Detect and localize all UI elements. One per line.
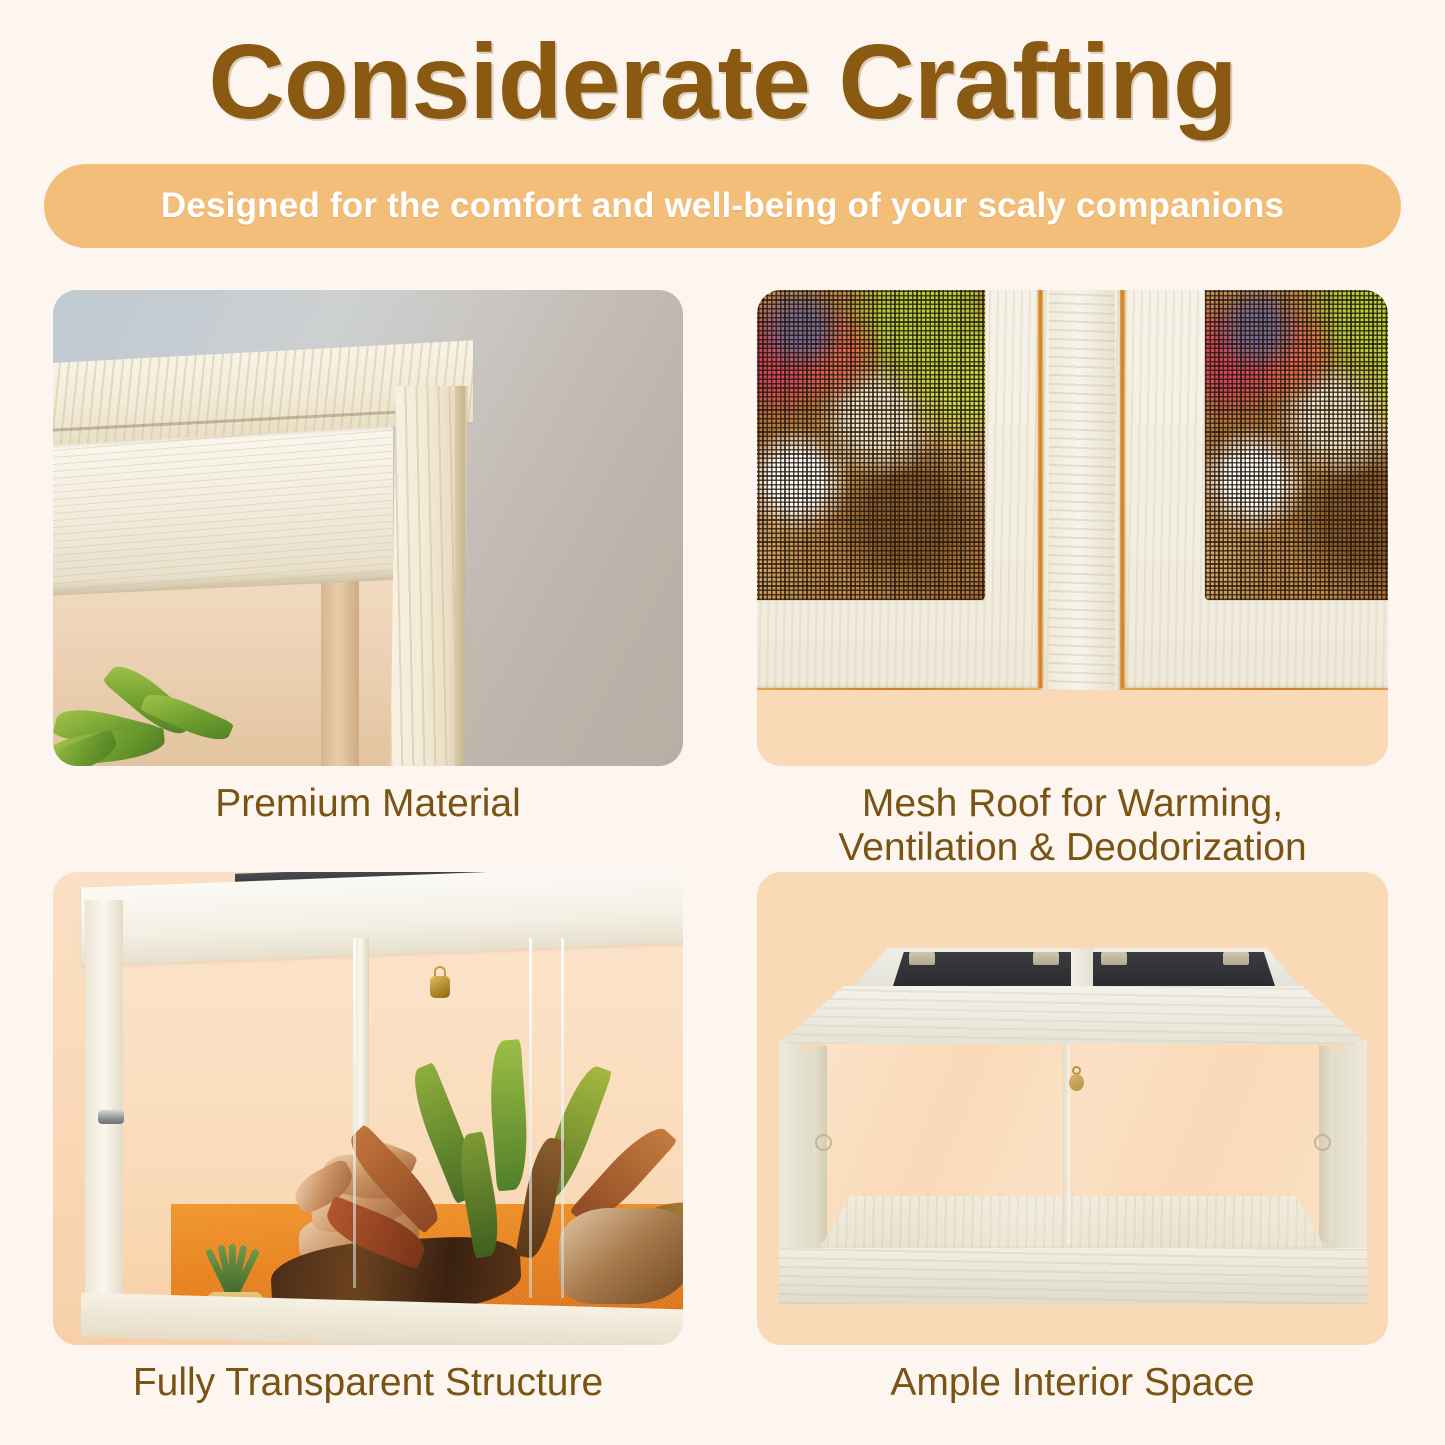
page-title: Considerate Crafting xyxy=(0,22,1445,144)
feature-card-mesh-roof: Mesh Roof for Warming, Ventilation & Deo… xyxy=(757,290,1388,880)
photo-ample-interior-space xyxy=(757,872,1388,1345)
latch-icon xyxy=(1068,1066,1084,1092)
hinge-icon-2 xyxy=(1033,952,1059,965)
hinge-icon-4 xyxy=(1223,952,1249,965)
terrarium-top-rail xyxy=(779,986,1367,1044)
peach-background-strip xyxy=(757,690,1388,766)
terrarium-base-rail xyxy=(779,1248,1367,1304)
vent-hole-right-icon xyxy=(1314,1134,1331,1151)
mesh-grid-overlay-left xyxy=(757,290,985,600)
photo-fully-transparent-structure xyxy=(53,872,683,1345)
terrarium-body xyxy=(771,948,1375,1278)
glass-door-edge-left xyxy=(353,938,356,1288)
feature-card-premium-material: Premium Material xyxy=(53,290,683,830)
wood-corner-post-edge xyxy=(455,386,465,766)
photo-premium-material xyxy=(53,290,683,766)
gold-trim-vertical-right xyxy=(1120,290,1125,688)
mesh-panel-right xyxy=(1205,290,1388,600)
glass-door-edge-right xyxy=(561,938,564,1298)
mesh-grid-overlay-right xyxy=(1205,290,1388,600)
hinge-icon-1 xyxy=(909,952,935,965)
vent-hole-left-icon xyxy=(815,1134,832,1151)
gold-trim-vertical-left xyxy=(1038,290,1043,688)
feature-card-fully-transparent-structure: Fully Transparent Structure xyxy=(53,872,683,1412)
subtitle-banner: Designed for the comfort and well-being … xyxy=(44,164,1401,248)
terrarium-inner-post xyxy=(321,562,359,766)
rock-decoration xyxy=(559,1208,683,1304)
door-knob xyxy=(98,1110,124,1124)
center-wood-divider xyxy=(1049,290,1115,700)
caption-ample-interior-space: Ample Interior Space xyxy=(757,1361,1388,1405)
caption-premium-material: Premium Material xyxy=(53,782,683,826)
subtitle-text: Designed for the comfort and well-being … xyxy=(161,186,1284,226)
roof-center-divider xyxy=(1071,948,1093,992)
lock-body xyxy=(430,976,450,998)
lock-icon xyxy=(430,966,450,1000)
caption-mesh-roof: Mesh Roof for Warming, Ventilation & Deo… xyxy=(757,782,1388,869)
photo-mesh-roof xyxy=(757,290,1388,766)
decorative-plant xyxy=(53,670,255,766)
latch-body xyxy=(1069,1074,1084,1091)
glass-door-edge-center xyxy=(529,938,532,1298)
mesh-panel-left xyxy=(757,290,985,600)
hinge-icon-3 xyxy=(1101,952,1127,965)
feature-card-ample-interior-space: Ample Interior Space xyxy=(757,872,1388,1412)
caption-fully-transparent-structure: Fully Transparent Structure xyxy=(53,1361,683,1405)
